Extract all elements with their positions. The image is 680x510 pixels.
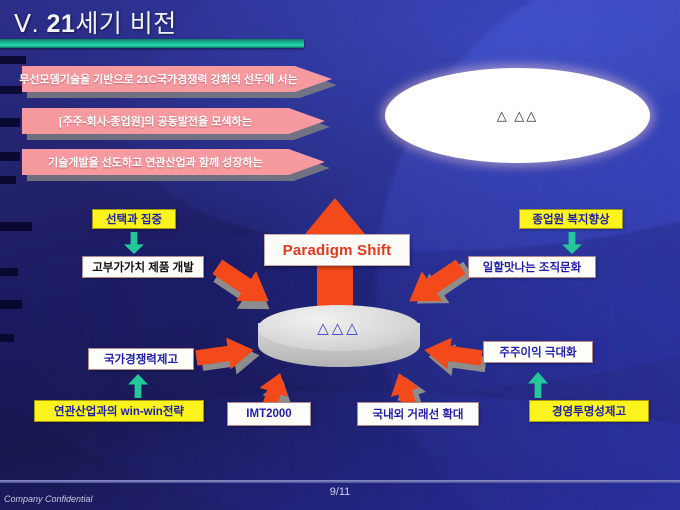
company-ellipse: △ △△ — [385, 68, 650, 163]
node-win-win-strategy[interactable]: 연관산업과의 win-win전략 — [34, 400, 204, 422]
node-employee-welfare[interactable]: 종업원 복지향상 — [519, 209, 623, 229]
paradigm-shift-box: Paradigm Shift — [264, 234, 410, 266]
edge-bar — [0, 300, 22, 309]
green-arrow-up-left — [128, 374, 148, 398]
node-high-value-product-development[interactable]: 고부가가치 제품 개발 — [82, 256, 204, 278]
title-prefix: Ⅴ. — [14, 10, 47, 38]
green-arrow-up-right — [528, 372, 548, 398]
banner-label: [주주-회사-종업원]의 공동발전을 모색하는 — [22, 108, 289, 134]
paradigm-shift-label: Paradigm Shift — [283, 242, 392, 259]
page-number: 9/11 — [0, 486, 680, 498]
node-management-transparency[interactable]: 경영투명성제고 — [529, 400, 649, 422]
vision-banner-1: 무선모뎀기술을 기반으로 21C국가경쟁력 강화의 선두에 서는 — [22, 66, 332, 92]
edge-bar — [0, 152, 20, 161]
vision-banner-2: [주주-회사-종업원]의 공동발전을 모색하는 — [22, 108, 325, 134]
title-number: 21 — [47, 10, 76, 38]
edge-bar — [0, 334, 14, 342]
green-arrow-down-right — [562, 232, 582, 254]
company-ellipse-label: △ △△ — [497, 108, 539, 124]
node-imt2000[interactable]: IMT2000 — [227, 402, 311, 426]
presentation-slide: Ⅴ. 21세기 비전 무선모뎀기술을 기반으로 21C국가경쟁력 강화의 선두에… — [0, 0, 680, 510]
center-cylinder: △△△ — [258, 305, 420, 377]
cylinder-label: △△△ — [258, 305, 420, 351]
edge-bar — [0, 176, 16, 184]
node-enjoyable-work-culture[interactable]: 일할맛나는 조직문화 — [468, 256, 596, 278]
node-selection-and-focus[interactable]: 선택과 집중 — [92, 209, 176, 229]
vision-banner-3: 기술개발을 선도하고 연관산업과 함께 성장하는 — [22, 149, 325, 175]
green-arrow-down-left — [124, 232, 144, 254]
footer-divider — [0, 480, 680, 483]
node-national-competitiveness[interactable]: 국가경쟁력제고 — [88, 348, 194, 370]
edge-bar — [0, 268, 18, 276]
edge-bar — [0, 86, 22, 94]
inward-arrow-left — [194, 334, 256, 374]
title-rest: 세기 비전 — [75, 10, 176, 38]
node-domestic-overseas-clients[interactable]: 국내외 거래선 확대 — [357, 402, 479, 426]
edge-bar — [0, 56, 26, 64]
node-shareholder-profit-maximization[interactable]: 주주이익 극대화 — [483, 341, 593, 363]
banner-label: 기술개발을 선도하고 연관산업과 함께 성장하는 — [22, 149, 289, 175]
edge-bar — [0, 118, 20, 127]
title-underline — [0, 39, 304, 48]
banner-label: 무선모뎀기술을 기반으로 21C국가경쟁력 강화의 선두에 서는 — [22, 66, 295, 92]
edge-bar — [0, 222, 32, 231]
page-title: Ⅴ. 21세기 비전 — [14, 4, 177, 40]
inward-arrow-right — [422, 334, 484, 374]
